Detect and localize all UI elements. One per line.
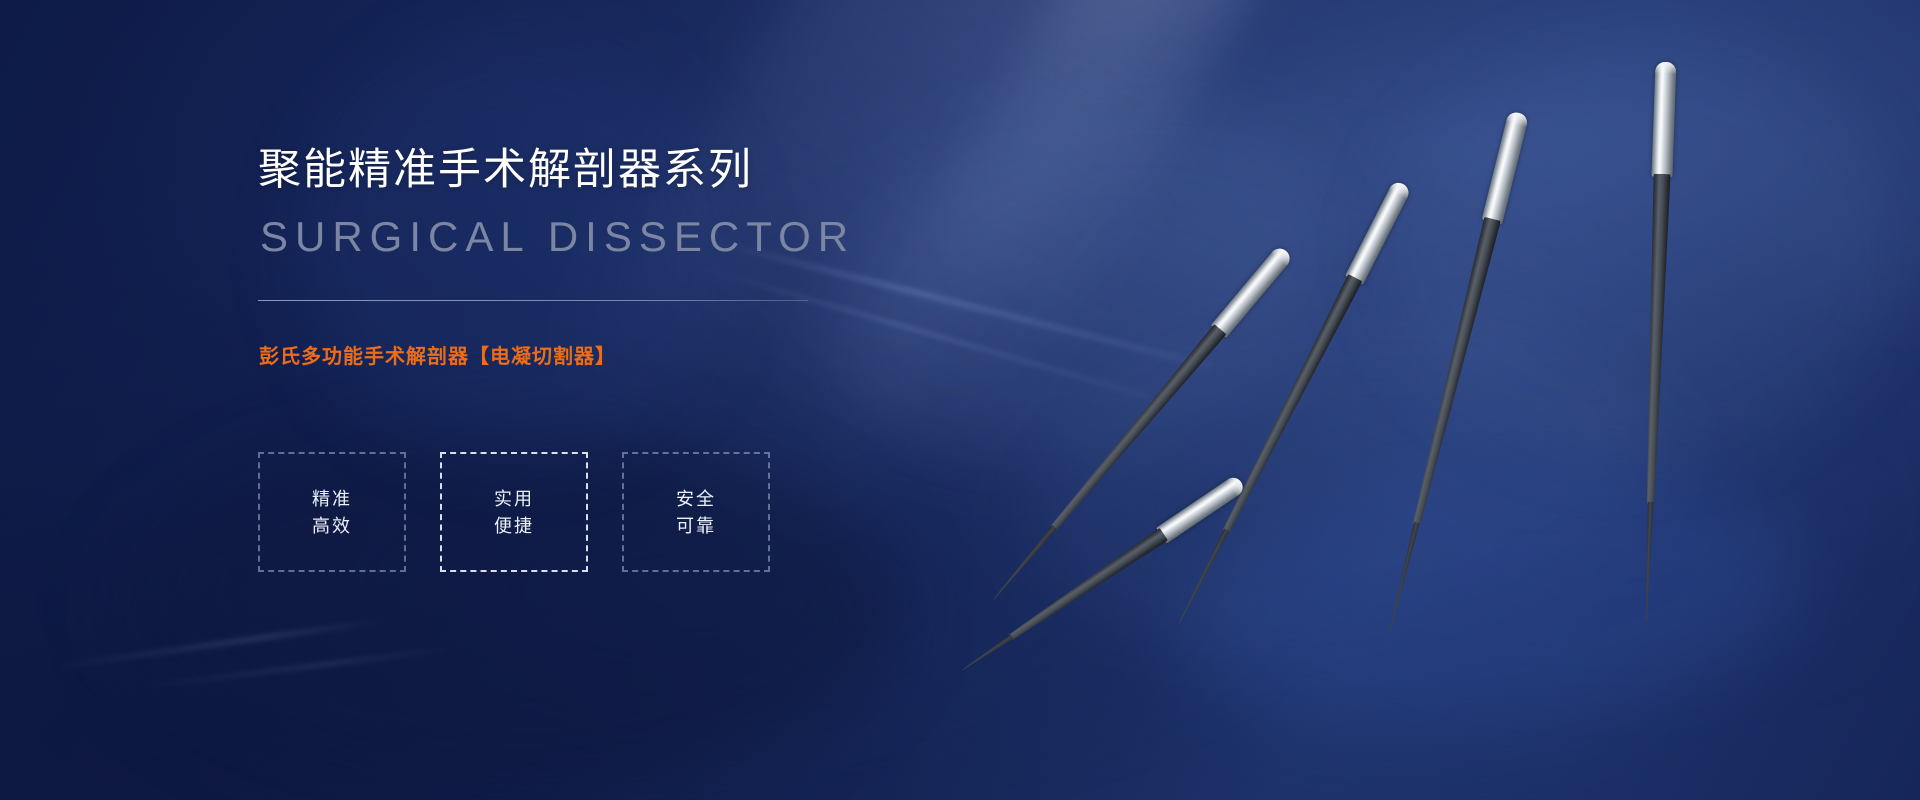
banner-copy-block: 聚能精准手术解剖器系列 SURGICAL DISSECTOR 彭氏多功能手术解剖… <box>258 0 1078 800</box>
divider <box>258 300 808 301</box>
product-hero-banner: 聚能精准手术解剖器系列 SURGICAL DISSECTOR 彭氏多功能手术解剖… <box>0 0 1920 800</box>
background-blob <box>1380 40 1900 460</box>
feature-line-1: 精准 <box>312 490 352 508</box>
feature-line-2: 高效 <box>312 517 352 535</box>
feature-line-2: 便捷 <box>494 517 534 535</box>
feature-box-precision[interactable]: 精准 高效 <box>258 452 406 572</box>
product-tagline: 彭氏多功能手术解剖器【电凝切割器】 <box>259 340 616 369</box>
feature-box-safety[interactable]: 安全 可靠 <box>622 452 770 572</box>
page-subtitle: SURGICAL DISSECTOR <box>260 214 855 260</box>
feature-box-practical[interactable]: 实用 便捷 <box>440 452 588 572</box>
feature-line-1: 实用 <box>494 490 534 508</box>
feature-line-2: 可靠 <box>676 517 716 535</box>
page-title: 聚能精准手术解剖器系列 <box>258 145 753 196</box>
feature-line-1: 安全 <box>676 490 716 508</box>
feature-box-group: 精准 高效 实用 便捷 安全 可靠 <box>258 452 770 572</box>
